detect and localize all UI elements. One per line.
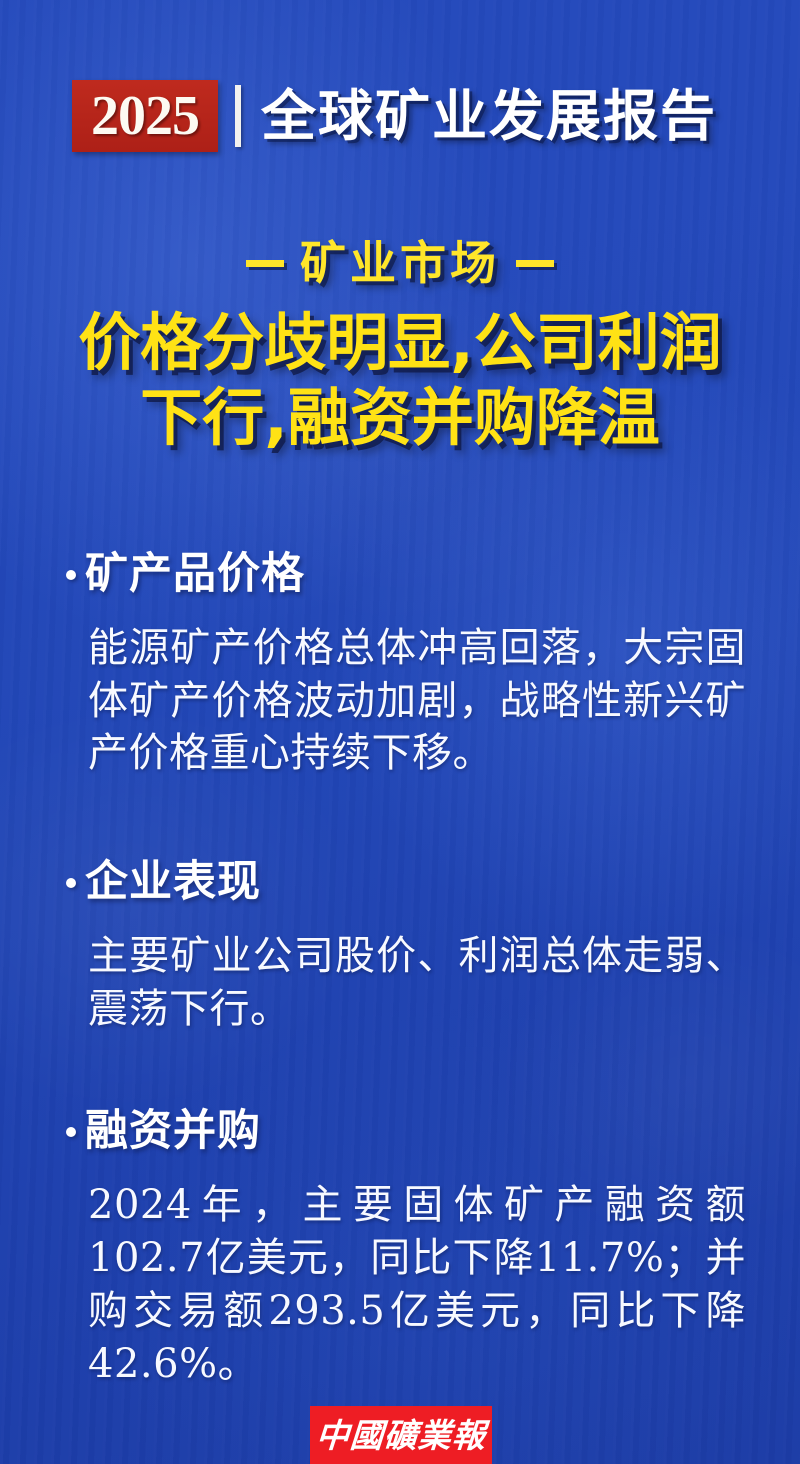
headline: 价格分歧明显,公司利润 下行,融资并购降温 (0, 305, 800, 456)
section-heading-label: 企业表现 (85, 856, 261, 910)
dash-left-icon (246, 260, 284, 267)
report-title: 全球矿业发展报告 (261, 89, 717, 144)
year-label: 2025 (91, 88, 199, 144)
bullet-dot-icon (66, 570, 76, 580)
section-financing-ma: 融资并购 2024年，主要固体矿产融资额102.7亿美元，同比下降11.7%；并… (0, 1105, 800, 1390)
header-divider (235, 85, 241, 147)
dash-right-icon (516, 260, 554, 267)
publisher-logo: 中國礦業報 (310, 1406, 492, 1464)
section-heading-label: 融资并购 (85, 1105, 261, 1159)
section-heading: 矿产品价格 (0, 548, 800, 602)
kicker-row: 矿业市场 (246, 238, 554, 289)
sections-list: 矿产品价格 能源矿产价格总体冲高回落，大宗固体矿产价格波动加剧，战略性新兴矿产价… (0, 548, 800, 1400)
section-body: 能源矿产价格总体冲高回落，大宗固体矿产价格波动加剧，战略性新兴矿产价格重心持续下… (88, 622, 746, 780)
section-mineral-prices: 矿产品价格 能源矿产价格总体冲高回落，大宗固体矿产价格波动加剧，战略性新兴矿产价… (0, 548, 800, 780)
section-heading: 企业表现 (0, 856, 800, 910)
bullet-dot-icon (66, 1127, 76, 1137)
section-body: 2024年，主要固体矿产融资额102.7亿美元，同比下降11.7%；并购交易额2… (88, 1179, 746, 1390)
section-heading: 融资并购 (0, 1105, 800, 1159)
poster-canvas: 2025 全球矿业发展报告 矿业市场 价格分歧明显,公司利润 下行,融资并购降温… (0, 0, 800, 1464)
year-badge: 2025 (72, 80, 218, 152)
headline-line-1: 价格分歧明显,公司利润 (0, 305, 800, 381)
section-heading-label: 矿产品价格 (85, 548, 305, 602)
publisher-logo-text: 中國礦業報 (315, 1419, 487, 1452)
section-company-performance: 企业表现 主要矿业公司股价、利润总体走弱、震荡下行。 (0, 856, 800, 1035)
section-body: 主要矿业公司股价、利润总体走弱、震荡下行。 (88, 930, 746, 1036)
title-block: 矿业市场 价格分歧明显,公司利润 下行,融资并购降温 (0, 238, 800, 456)
bullet-dot-icon (66, 878, 76, 888)
kicker-label: 矿业市场 (300, 238, 500, 289)
headline-line-2: 下行,融资并购降温 (0, 380, 800, 456)
poster-header: 2025 全球矿业发展报告 (72, 78, 717, 154)
